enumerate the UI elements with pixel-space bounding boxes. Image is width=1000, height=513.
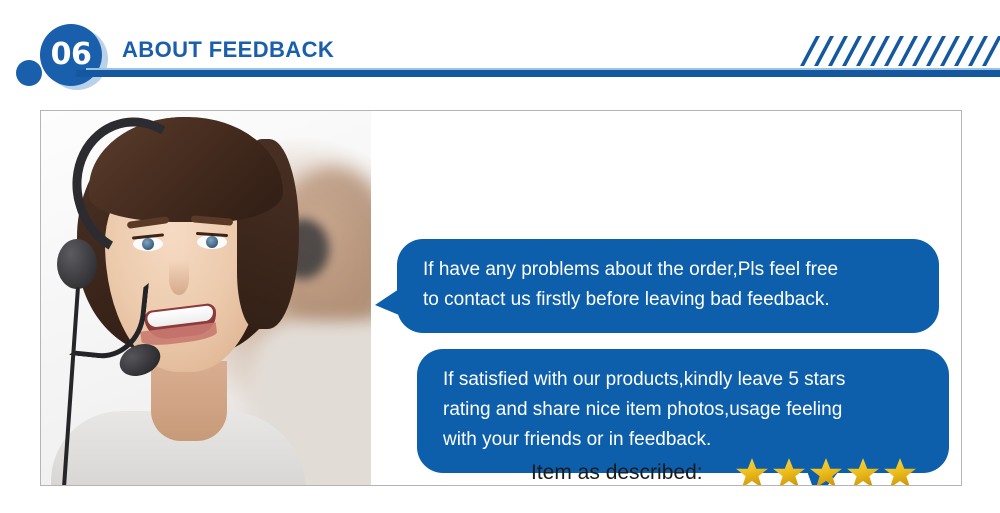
badge-accent-dot bbox=[16, 60, 42, 86]
star-icon bbox=[735, 456, 769, 486]
header-rule-thick bbox=[76, 70, 1000, 77]
speech-bubble-satisfied-text: If satisfied with our products,kindly le… bbox=[443, 365, 925, 455]
speech-bubble-problems-text: If have any problems about the order,Pls… bbox=[423, 255, 915, 315]
diagonal-hatch-decoration bbox=[800, 30, 1000, 66]
rating-stars-item-as-described bbox=[735, 456, 917, 486]
star-icon bbox=[809, 456, 843, 486]
rating-row: Item as described: bbox=[531, 451, 917, 486]
rating-label-item-as-described: Item as described: bbox=[531, 461, 727, 485]
rating-list: Item as described: Communication: Shippi… bbox=[531, 451, 917, 486]
agent-iris-right bbox=[206, 236, 218, 248]
agent-eye-right bbox=[197, 235, 227, 249]
feedback-panel: If have any problems about the order,Pls… bbox=[40, 110, 962, 486]
speech-bubble-tail-left bbox=[375, 289, 399, 315]
section-header: 06 ABOUT FEEDBACK bbox=[0, 0, 1000, 96]
speech-bubble-problems: If have any problems about the order,Pls… bbox=[397, 239, 939, 333]
page-title: ABOUT FEEDBACK bbox=[122, 37, 334, 63]
star-icon bbox=[883, 456, 917, 486]
star-icon bbox=[772, 456, 806, 486]
star-icon bbox=[846, 456, 880, 486]
agent-photo bbox=[41, 111, 371, 485]
agent-neck bbox=[151, 361, 227, 441]
badge-number-label: 06 bbox=[51, 40, 92, 70]
agent-nose bbox=[169, 261, 189, 295]
section-number-badge: 06 bbox=[14, 16, 124, 88]
